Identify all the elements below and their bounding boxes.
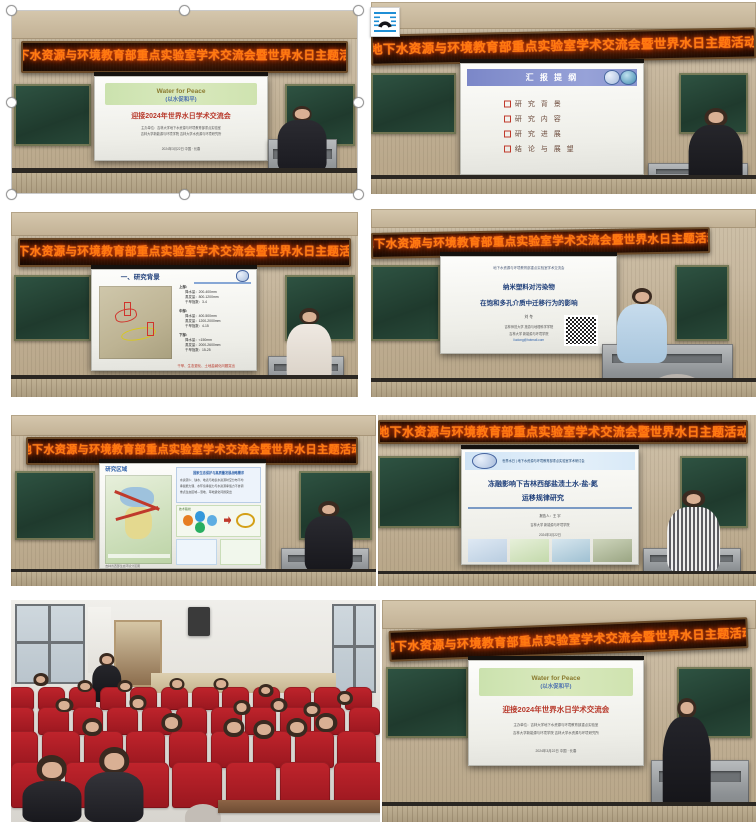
slide-band-title-cn: (以水促和平) <box>479 682 634 690</box>
speaker-8 <box>663 698 712 818</box>
slide-flow-diagram: 技术路线 <box>176 505 262 537</box>
slide-title-line-2: 运移规律研究 <box>468 493 617 503</box>
slide-content-4: 地下水资源与环境教育部重点实验室学术交流会 纳米塑料对污染物 在饱和多孔介质中迁… <box>440 256 617 354</box>
slide-date: 2024年3月22日 中国 · 长春 <box>482 748 630 753</box>
document-image-3[interactable]: 地下水资源与环境教育部重点实验室学术交流会暨世界水日主题活动 一、研究背景 <box>11 212 358 397</box>
led-banner-1: 地下水资源与环境教育部重点实验室学术交流会暨世界水日主题活动 <box>21 41 347 72</box>
slide-content-8: Water for Peace (以水促和平) 迎接2024年世界水日学术交流会… <box>468 660 644 767</box>
slide-band-title-en: Water for Peace <box>531 675 580 682</box>
projection-screen-6: 世界水日 | 地下水资源与环境教育部重点实验室学术研讨会 冻融影响下吉林西部盐渍… <box>461 449 639 565</box>
led-banner-3: 地下水资源与环境教育部重点实验室学术交流会暨世界水日主题活动 <box>18 238 351 268</box>
attendee <box>77 718 107 749</box>
attendee <box>52 698 78 722</box>
slide-bullet: 水资源少、缺水、地表与地表水资源时空分布不均 <box>176 475 262 482</box>
slide-presenter: 报告人：王 宇 <box>472 513 628 518</box>
projection-screen-8: Water for Peace (以水促和平) 迎接2024年世界水日学术交流会… <box>468 660 644 767</box>
window-right <box>332 604 376 693</box>
slide-date: 2024年3月22日 <box>472 532 628 537</box>
slide-sub-panels <box>176 539 262 564</box>
slide-data-column: 上部： 降水量：200-400mm 蒸发量：800-1200mm 干旱指数：3-… <box>179 284 252 352</box>
slide-band: Water for Peace (以水促和平) <box>479 668 634 696</box>
slide-main-title: 迎接2024年世界水日学术交流会 <box>103 111 259 121</box>
led-banner-text: 地下水资源与环境教育部重点实验室学术交流会暨世界水日主题活动 <box>371 36 756 56</box>
attendee <box>310 713 343 749</box>
group-row: 干旱指数：15-25 <box>179 347 252 352</box>
projection-screen-4: 地下水资源与环境教育部重点实验室学术交流会 纳米塑料对污染物 在饱和多孔介质中迁… <box>440 256 617 354</box>
speaker-4 <box>617 288 667 363</box>
slide-flow-label: 技术路线 <box>176 505 262 511</box>
slide-band-title-cn: (以水促和平) <box>105 95 258 103</box>
document-canvas[interactable]: 地下水资源与环境教育部重点实验室学术交流会暨世界水日主题活动 Water for… <box>0 0 756 822</box>
slide-title-line-2: 在饱和多孔介质中迁移行为的影响 <box>451 297 607 307</box>
led-banner-6: 地下水资源与环境教育部重点实验室学术交流会暨世界水日主题活动 <box>378 420 748 444</box>
slide-eyebrow: 世界水日 | 地下水资源与环境教育部重点实验室学术研讨会 <box>502 458 584 463</box>
projection-screen-1: Water for Peace (以水促和平) 迎接2024年世界水日学术交流会… <box>94 76 268 161</box>
slide-bullet-list: 研 究 背 景 研 究 内 容 研 究 进 展 结 论 与 展 望 <box>504 99 576 159</box>
attendee <box>29 673 51 693</box>
resize-handle-w[interactable] <box>6 97 17 108</box>
attendee <box>280 718 313 754</box>
resize-handle-ne[interactable] <box>353 5 364 16</box>
slide-header: 研究区域 <box>105 465 127 473</box>
slide-panel: 国家生态保护与高质量发展战略需求 水资源少、缺水、地表与地表水资源时空分布不均 … <box>176 467 262 503</box>
document-image-8[interactable]: 地下水资源与环境教育部重点实验室学术交流会暨世界水日主题活动 Water for… <box>382 600 756 822</box>
speaker-6 <box>665 490 722 572</box>
slide-content-3: 一、研究背景 上部： 降水量：200-400mm 蒸发量：800-1200mm … <box>91 269 258 371</box>
slide-thumbnails <box>468 539 631 562</box>
slide-content-1: Water for Peace (以水促和平) 迎接2024年世界水日学术交流会… <box>94 76 268 161</box>
attendee <box>155 713 188 749</box>
ceiling-speaker <box>188 607 210 636</box>
slide-region-map <box>105 475 172 564</box>
document-image-7[interactable] <box>11 600 380 822</box>
slide-panel-title: 国家生态保护与高质量发展战略需求 <box>176 467 262 475</box>
slide-sub-2: 吉林大学新能源与环境学院 吉林大学水资源与环境研究所 <box>482 730 630 735</box>
slide-title-line-1: 纳米塑料对污染物 <box>451 281 607 291</box>
slide-eyebrow-band: 世界水日 | 地下水资源与环境教育部重点实验室学术研讨会 <box>465 452 636 471</box>
slide-affil: 吉林大学 新能源与环境学院 <box>472 522 628 527</box>
slide-sub-2: 吉林大学新能源与环境学院 吉林大学水资源与环境研究所 <box>108 131 254 136</box>
attendee-foreground <box>85 747 144 822</box>
document-image-4[interactable]: 地下水资源与环境教育部重点实验室学术交流会暨世界水日主题活动 地下水资源与环境教… <box>371 209 756 397</box>
speaker-3 <box>285 308 334 382</box>
slide-content-2: 汇 报 提 纲 研 究 背 景 研 究 内 容 研 究 进 展 结 论 与 展 … <box>460 63 645 174</box>
slide-content-5: 研究区域 国家生态保护与高质量发展战略需求 水资源少、缺水、地表与地表水资源时空… <box>99 463 267 569</box>
attendee-foreground <box>22 755 81 822</box>
resize-handle-s[interactable] <box>179 189 190 200</box>
resize-handle-e[interactable] <box>353 97 364 108</box>
bullet-item: 结 论 与 展 望 <box>504 144 576 154</box>
resize-handle-nw[interactable] <box>6 5 17 16</box>
attendee <box>210 678 232 698</box>
attendee <box>218 718 251 754</box>
projection-screen-5: 研究区域 国家生态保护与高质量发展战略需求 水资源少、缺水、地表与地表水资源时空… <box>99 463 267 569</box>
led-banner-text: 地下水资源与环境教育部重点实验室学术交流会暨世界水日主题活动 <box>18 247 351 259</box>
led-banner-text: 地下水资源与环境教育部重点实验室学术交流会暨世界水日主题活动 <box>378 426 748 438</box>
speaker-5 <box>303 501 354 573</box>
led-banner-text: 地下水资源与环境教育部重点实验室学术交流会暨世界水日主题活动 <box>371 234 710 252</box>
led-banner-text: 地下水资源与环境教育部重点实验室学术交流会暨世界水日主题活动 <box>389 627 749 653</box>
projection-screen-3: 一、研究背景 上部： 降水量：200-400mm 蒸发量：800-1200mm … <box>91 269 258 371</box>
image-placeholder-icon[interactable] <box>370 7 400 37</box>
speaker-1 <box>275 106 331 172</box>
document-image-6[interactable]: 地下水资源与环境教育部重点实验室学术交流会暨世界水日主题活动 世界水日 | 地下… <box>378 415 756 586</box>
slide-bullet: 重点生态区域—湿地、草地退化问题突出 <box>176 488 262 494</box>
resize-handle-se[interactable] <box>353 189 364 200</box>
slide-title-line-1: 冻融影响下吉林西部盐渍土水-盐-氮 <box>468 479 617 489</box>
slide-band: Water for Peace (以水促和平) <box>105 83 258 105</box>
slide-sub-1: 主办单位：吉林大学地下水资源与环境教育部重点实验室 <box>482 722 630 727</box>
group-row: 干旱指数：4-15 <box>179 323 252 328</box>
group-row: 干旱指数：3-4 <box>179 299 252 304</box>
led-banner-text: 地下水资源与环境教育部重点实验室学术交流会暨世界水日主题活动 <box>21 51 347 63</box>
attendee <box>125 695 151 719</box>
slide-qr-code <box>566 317 596 344</box>
bullet-item: 研 究 背 景 <box>504 99 576 109</box>
projection-screen-2: 汇 报 提 纲 研 究 背 景 研 究 内 容 研 究 进 展 结 论 与 展 … <box>460 63 645 174</box>
bullet-item: 研 究 内 容 <box>504 114 576 124</box>
document-image-1[interactable]: 地下水资源与环境教育部重点实验室学术交流会暨世界水日主题活动 Water for… <box>11 10 358 194</box>
audience-scene <box>11 600 380 822</box>
resize-handle-n[interactable] <box>179 5 190 16</box>
slide-eyebrow: 地下水资源与环境教育部重点实验室学术交流会 <box>451 265 607 270</box>
desk-front <box>218 800 380 813</box>
document-image-5[interactable]: 地下水资源与环境教育部重点实验室学术交流会暨世界水日主题活动 研究区域 <box>11 415 376 586</box>
attendee <box>166 678 188 698</box>
slide-sub-1: 主办单位：吉林大学地下水资源与环境教育部重点实验室 <box>108 125 254 130</box>
slide-main-title: 迎接2024年世界水日学术交流会 <box>477 704 635 715</box>
slide-footer: 吉林省西部生态环境分区图 <box>105 564 140 568</box>
slide-content-6: 世界水日 | 地下水资源与环境教育部重点实验室学术研讨会 冻融影响下吉林西部盐渍… <box>461 449 639 565</box>
slide-map <box>99 286 172 359</box>
resize-handle-sw[interactable] <box>6 189 17 200</box>
led-banner-text: 地下水资源与环境教育部重点实验室学术交流会暨世界水日主题活动 <box>26 445 358 456</box>
document-image-2[interactable]: 地下水资源与环境教育部重点实验室学术交流会暨世界水日主题活动 汇 报 提 纲 研… <box>371 2 756 194</box>
slide-date: 2024年3月22日 中国 · 长春 <box>108 146 254 151</box>
slide-band-title-en: Water for Peace <box>157 88 206 95</box>
attendee <box>247 720 280 756</box>
slide-footer: 干旱、生态退化、土地盐碱化问题突出 <box>177 363 252 368</box>
bullet-item: 研 究 进 展 <box>504 129 576 139</box>
slide-header: 一、研究背景 <box>121 271 160 281</box>
